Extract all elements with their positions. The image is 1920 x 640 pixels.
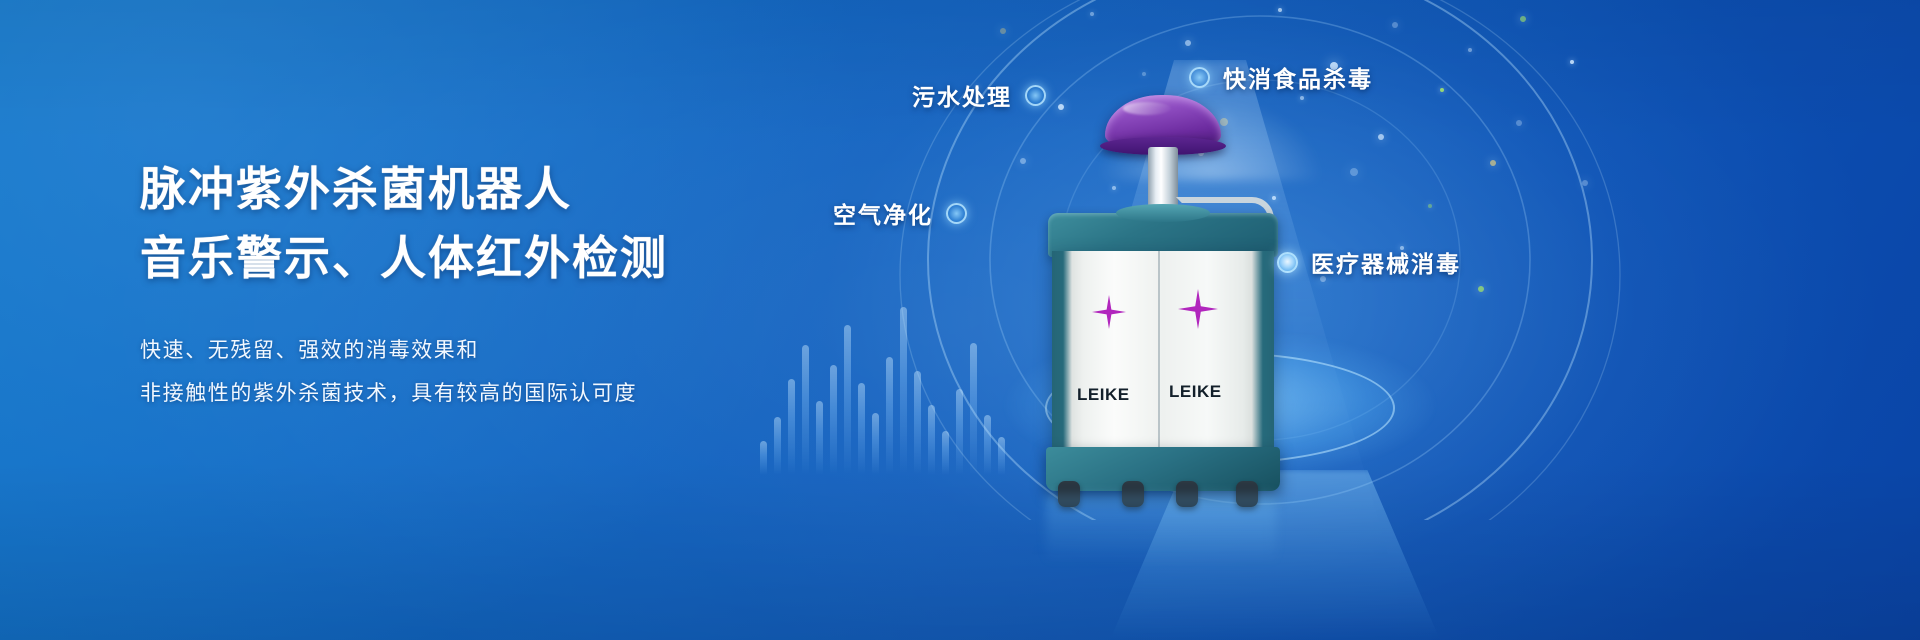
- particle-dot: [1490, 160, 1496, 166]
- particle-dot: [1516, 120, 1522, 126]
- equalizer-bar: [984, 415, 991, 475]
- particle-dot: [1300, 96, 1304, 100]
- equalizer-bar: [844, 325, 851, 475]
- particle-dot: [1582, 180, 1588, 186]
- hotspot-medical-device-disinfection[interactable]: 医疗器械消毒: [1277, 245, 1461, 279]
- particle-dot: [1020, 158, 1026, 164]
- hotspot-air-purification[interactable]: 空气净化: [833, 196, 967, 230]
- page-title-line1: 脉冲紫外杀菌机器人: [140, 155, 780, 224]
- equalizer-bar: [788, 379, 795, 475]
- subcopy-line1: 快速、无残留、强效的消毒效果和: [140, 329, 780, 372]
- equalizer-bar: [872, 413, 879, 475]
- hero-subcopy: 快速、无残留、强效的消毒效果和 非接触性的紫外杀菌技术，具有较高的国际认可度: [140, 329, 780, 415]
- brand-label-left: LEIKE: [1077, 385, 1130, 405]
- particle-dot: [1378, 134, 1384, 140]
- particle-dot: [1520, 16, 1526, 22]
- particle-dot: [1440, 88, 1444, 92]
- particle-dot: [1428, 204, 1432, 208]
- equalizer-bar: [774, 417, 781, 475]
- particle-dot: [1090, 12, 1094, 16]
- equalizer-bar: [998, 437, 1005, 475]
- hotspot-label: 空气净化: [833, 196, 933, 230]
- particle-dot: [1392, 22, 1398, 28]
- brand-label-right: LEIKE: [1169, 382, 1222, 402]
- uv-disinfection-robot: LEIKE LEIKE: [1030, 95, 1290, 495]
- hotspot-label: 快消食品杀毒: [1223, 60, 1373, 94]
- subcopy-line2: 非接触性的紫外杀菌技术，具有较高的国际认可度: [140, 372, 780, 415]
- equalizer-bar: [760, 441, 767, 475]
- robot-reflection: [1046, 494, 1276, 564]
- ring-dot-icon: [1189, 67, 1210, 88]
- equalizer-bar: [900, 307, 907, 475]
- equalizer-bar: [942, 431, 949, 475]
- particle-dot: [1570, 60, 1574, 64]
- hero-text-block: 脉冲紫外杀菌机器人 音乐警示、人体红外检测 快速、无残留、强效的消毒效果和 非接…: [140, 155, 780, 415]
- ring-dot-icon: [1025, 85, 1046, 106]
- hero-banner: 脉冲紫外杀菌机器人 音乐警示、人体红外检测 快速、无残留、强效的消毒效果和 非接…: [0, 0, 1920, 640]
- equalizer-bar: [956, 389, 963, 475]
- equalizer-bar: [816, 401, 823, 475]
- equalizer-bar: [914, 371, 921, 475]
- audio-equalizer-decoration: [760, 307, 1005, 475]
- hotspot-label: 污水处理: [912, 78, 1012, 112]
- hotspot-wastewater-treatment[interactable]: 污水处理: [912, 78, 1046, 112]
- particle-dot: [1142, 72, 1146, 76]
- equalizer-bar: [928, 405, 935, 475]
- particle-dot: [1278, 8, 1282, 12]
- equalizer-bar: [802, 345, 809, 475]
- hotspot-label: 医疗器械消毒: [1311, 245, 1461, 279]
- equalizer-bar: [970, 343, 977, 475]
- particle-dot: [1468, 48, 1472, 52]
- robot-body-shell: [1052, 251, 1274, 451]
- hotspot-food-sterilization[interactable]: 快消食品杀毒: [1189, 60, 1373, 94]
- particle-dot: [1000, 28, 1006, 34]
- robot-body-seam: [1158, 251, 1160, 451]
- particle-dot: [1185, 40, 1191, 46]
- equalizer-bar: [858, 383, 865, 475]
- ring-dot-icon: [946, 203, 967, 224]
- page-title-line2: 音乐警示、人体红外检测: [140, 224, 780, 293]
- equalizer-bar: [830, 365, 837, 475]
- equalizer-bar: [886, 357, 893, 475]
- solid-dot-icon: [1277, 252, 1298, 273]
- particle-dot: [1350, 168, 1358, 176]
- particle-dot: [1478, 286, 1484, 292]
